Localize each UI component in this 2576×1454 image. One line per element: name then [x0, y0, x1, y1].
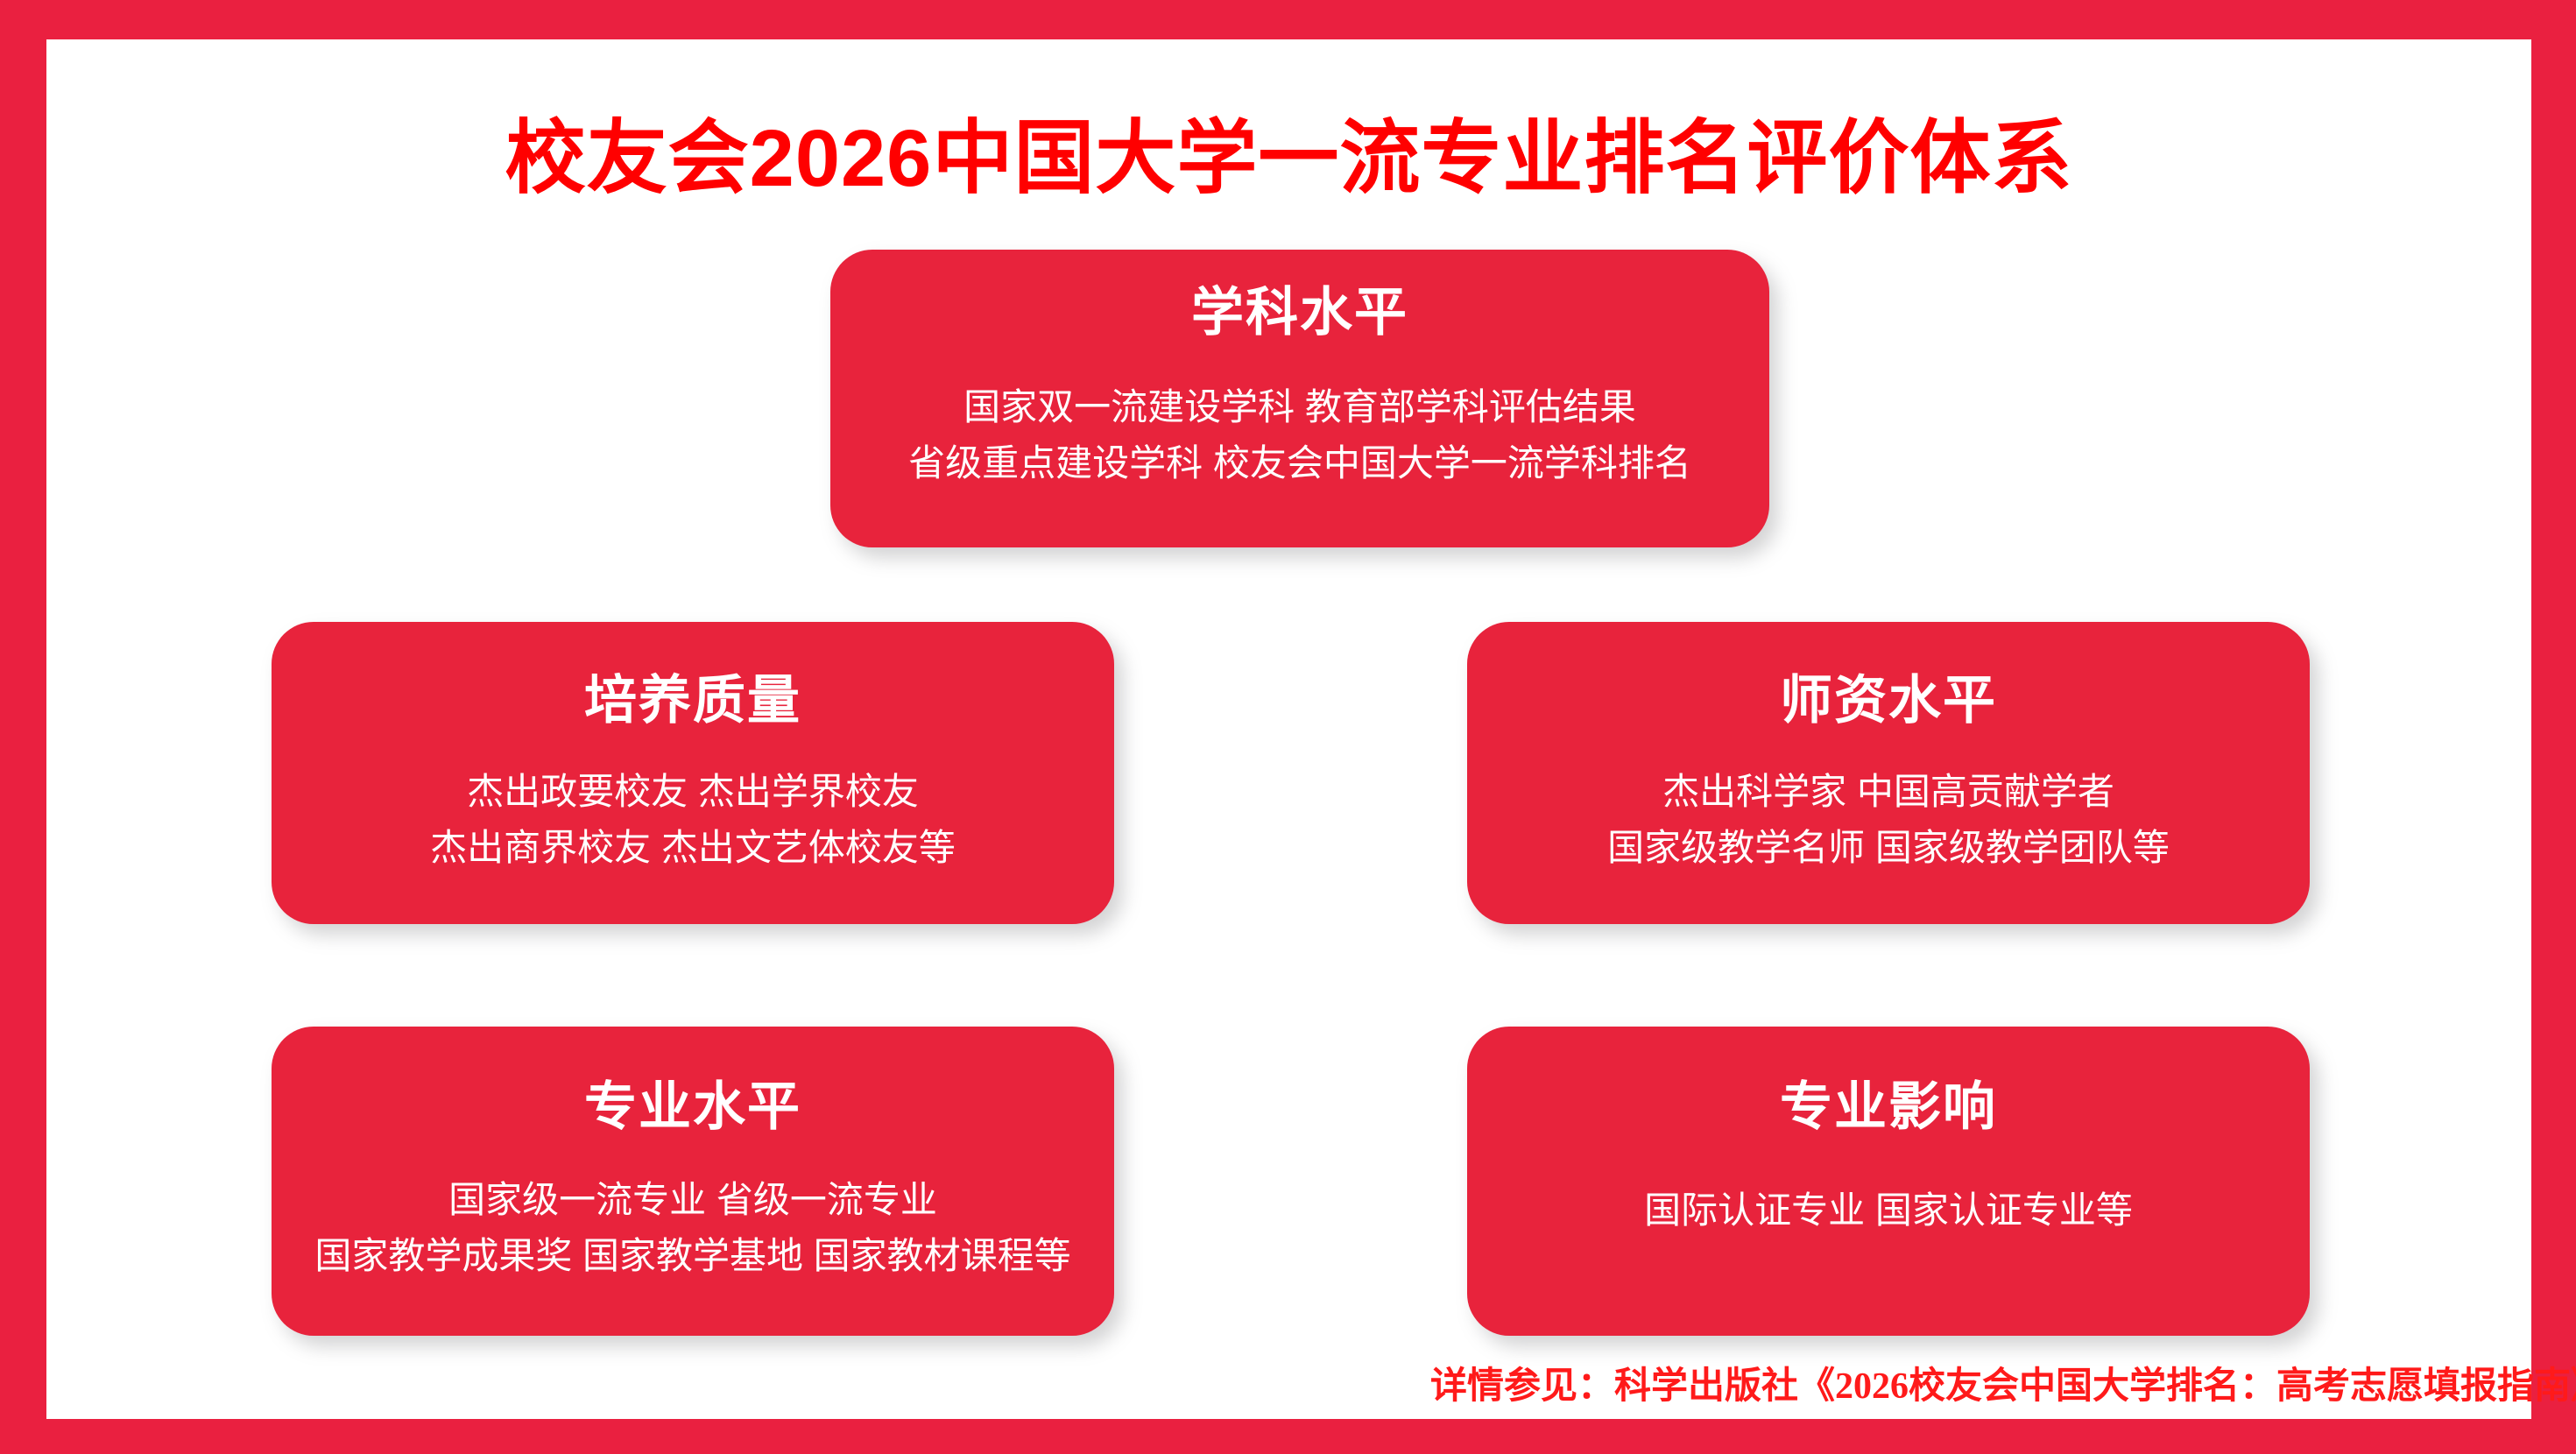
card-major-impact[interactable]: 专业影响 国际认证专业 国家认证专业等: [1467, 1027, 2310, 1336]
card-faculty-lines: 杰出科学家 中国高贡献学者 国家级教学名师 国家级教学团队等: [1467, 764, 2310, 876]
infographic-page: 校友会2026中国大学一流专业排名评价体系 学科水平 国家双一流建设学科 教育部…: [0, 0, 2576, 1454]
card-major-level-title: 专业水平: [584, 1081, 801, 1133]
card-major-level-line-1: 国家级一流专业 省级一流专业: [448, 1172, 937, 1228]
card-major-impact-title: 专业影响: [1780, 1081, 1997, 1133]
card-discipline-lines: 国家双一流建设学科 教育部学科评估结果 省级重点建设学科 校友会中国大学一流学科…: [830, 379, 1769, 491]
card-discipline[interactable]: 学科水平 国家双一流建设学科 教育部学科评估结果 省级重点建设学科 校友会中国大…: [830, 250, 1769, 547]
card-training-lines: 杰出政要校友 杰出学界校友 杰出商界校友 杰出文艺体校友等: [272, 764, 1114, 876]
card-discipline-title: 学科水平: [1191, 286, 1408, 339]
card-major-level-line-2: 国家教学成果奖 国家教学基地 国家教材课程等: [314, 1228, 1070, 1284]
card-major-level-lines: 国家级一流专业 省级一流专业 国家教学成果奖 国家教学基地 国家教材课程等: [272, 1172, 1114, 1284]
card-major-level[interactable]: 专业水平 国家级一流专业 省级一流专业 国家教学成果奖 国家教学基地 国家教材课…: [272, 1027, 1114, 1336]
card-faculty-line-1: 杰出科学家 中国高贡献学者: [1662, 764, 2114, 820]
card-faculty-line-2: 国家级教学名师 国家级教学团队等: [1607, 820, 2170, 876]
card-faculty[interactable]: 师资水平 杰出科学家 中国高贡献学者 国家级教学名师 国家级教学团队等: [1467, 622, 2310, 924]
card-training-line-1: 杰出政要校友 杰出学界校友: [467, 764, 919, 820]
card-faculty-title: 师资水平: [1780, 674, 1997, 727]
card-training[interactable]: 培养质量 杰出政要校友 杰出学界校友 杰出商界校友 杰出文艺体校友等: [272, 622, 1114, 924]
card-training-title: 培养质量: [584, 674, 801, 727]
card-discipline-line-1: 国家双一流建设学科 教育部学科评估结果: [963, 379, 1636, 435]
white-canvas: 校友会2026中国大学一流专业排名评价体系 学科水平 国家双一流建设学科 教育部…: [46, 39, 2531, 1419]
card-major-impact-line-1: 国际认证专业 国家认证专业等: [1644, 1182, 2133, 1239]
card-training-line-2: 杰出商界校友 杰出文艺体校友等: [430, 820, 956, 876]
card-major-impact-lines: 国际认证专业 国家认证专业等: [1467, 1182, 2310, 1239]
page-title: 校友会2026中国大学一流专业排名评价体系: [46, 116, 2531, 201]
card-discipline-line-2: 省级重点建设学科 校友会中国大学一流学科排名: [908, 435, 1691, 491]
footer-source-note: 详情参见：科学出版社《2026校友会中国大学排名：高考志愿填报指南》: [1430, 1356, 2490, 1409]
